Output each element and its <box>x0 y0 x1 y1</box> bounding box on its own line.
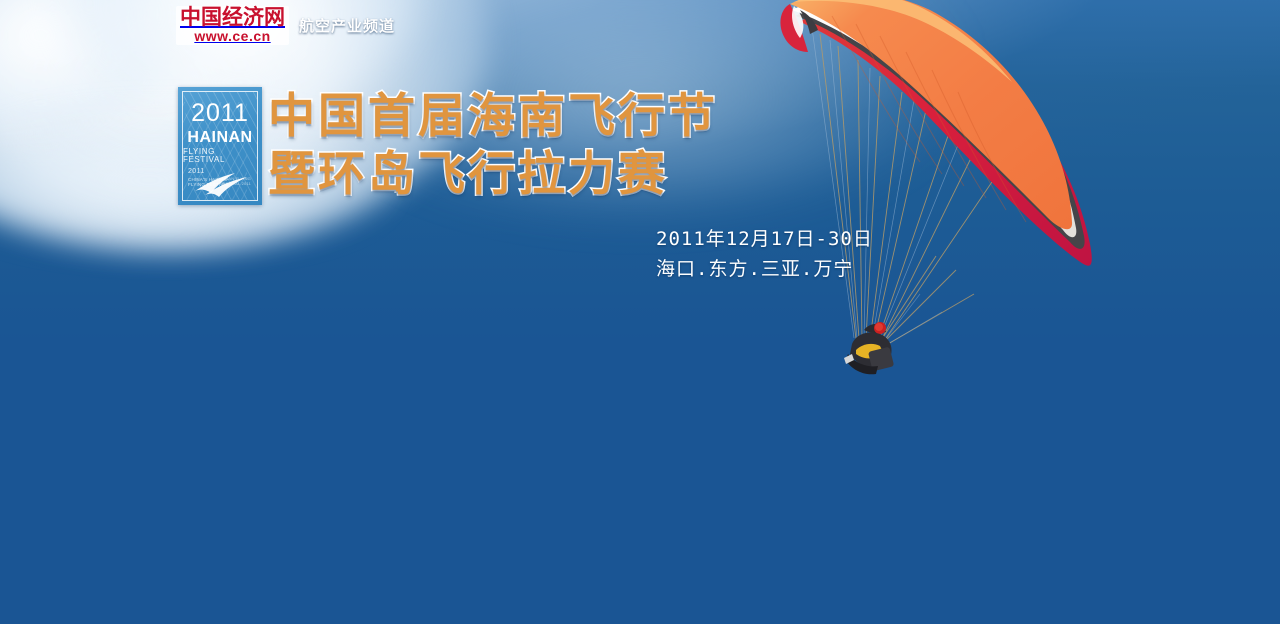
festival-badge: 2011 HAINAN FLYING FESTIVAL 2011 CHINA'S… <box>178 87 262 205</box>
header-logo-row: 中国经济网 www.ce.cn 航空产业频道 <box>176 6 395 45</box>
channel-title: 航空产业频道 <box>299 15 395 36</box>
badge-footer-right-line2: FESTIVAL 2011 <box>218 181 251 186</box>
site-logo[interactable]: 中国经济网 www.ce.cn <box>176 6 289 45</box>
site-logo-name: 中国经济网 <box>180 7 285 28</box>
badge-year: 2011 <box>191 101 249 126</box>
title-line-2: 暨环岛飞行拉力赛 <box>268 146 718 204</box>
page-title: 中国首届海南飞行节 暨环岛飞行拉力赛 <box>268 88 718 204</box>
festival-banner: 中国经济网 www.ce.cn 航空产业频道 2011 HAINAN FLYIN… <box>0 0 1280 624</box>
site-logo-url: www.ce.cn <box>180 29 285 43</box>
event-dates: 2011年12月17日-30日 <box>656 224 873 254</box>
badge-place: HAINAN <box>187 130 252 146</box>
festival-badge-inner: 2011 HAINAN FLYING FESTIVAL 2011 CHINA'S… <box>182 91 258 201</box>
event-info: 2011年12月17日-30日 海口.东方.三亚.万宁 <box>656 224 873 284</box>
event-cities: 海口.东方.三亚.万宁 <box>656 254 873 284</box>
title-line-1: 中国首届海南飞行节 <box>268 88 718 146</box>
badge-subtitle: FLYING FESTIVAL <box>183 148 257 164</box>
paraglider-illustration <box>760 0 1280 404</box>
badge-footer-right: HAINAN FLYING FESTIVAL 2011 <box>218 176 251 186</box>
